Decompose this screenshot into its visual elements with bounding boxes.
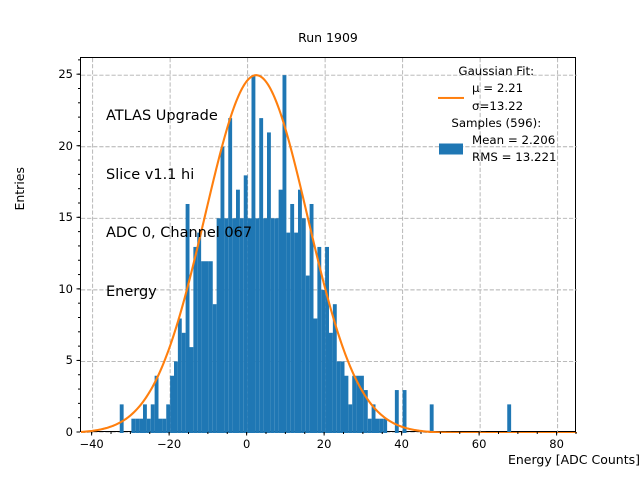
histogram-bar [174, 361, 178, 433]
histogram-bar [213, 304, 217, 433]
y-tick-label: 0 [0, 425, 73, 439]
histogram-bar [321, 290, 325, 433]
histogram-bar [252, 75, 256, 433]
histogram-bar [302, 218, 306, 433]
histogram-bar [131, 419, 135, 433]
histogram-bar [314, 318, 318, 433]
histogram-bar [341, 361, 345, 433]
histogram-bar [244, 175, 248, 433]
legend-fit-sigma: σ=13.22 [472, 98, 523, 115]
histogram-bar [186, 204, 190, 433]
histogram-bar [286, 233, 290, 433]
y-tick-label: 5 [0, 353, 73, 367]
histogram-bar [221, 147, 225, 433]
histogram-bar [120, 404, 124, 433]
histogram-bar [279, 190, 283, 433]
histogram-bar [329, 333, 333, 433]
histogram-bar [193, 247, 197, 433]
histogram-bar [337, 361, 341, 433]
x-tick-label: −20 [157, 437, 181, 451]
y-tick-label: 25 [0, 67, 73, 81]
histogram-bar [383, 419, 387, 433]
histogram-bar [290, 204, 294, 433]
histogram-bar [325, 247, 329, 433]
histogram-bar [345, 376, 349, 433]
y-axis-label-text: Entries [12, 167, 27, 211]
histogram-bar [205, 261, 209, 433]
legend-group-fit: Gaussian Fit: μ = 2.21 σ=13.22 [436, 63, 557, 115]
legend-samples-header: Samples (596): [436, 115, 557, 132]
chart-title: Run 1909 [80, 30, 576, 46]
histogram-bar [224, 218, 228, 433]
histogram-bar [306, 276, 310, 433]
histogram-bar [178, 318, 182, 433]
histogram-bar [507, 404, 511, 433]
histogram-bar [151, 404, 155, 433]
histogram-bar [263, 218, 267, 433]
x-tick-label: −40 [79, 437, 103, 451]
x-axis-label: Energy [ADC Counts] [508, 452, 640, 467]
histogram-bar [368, 419, 372, 433]
legend-fit-header: Gaussian Fit: [436, 63, 557, 80]
histogram-bar [267, 132, 271, 433]
histogram-bar [259, 118, 263, 433]
histogram-bar [139, 419, 143, 433]
legend-entry-samples[interactable]: Mean = 2.206 RMS = 13.221 [436, 132, 557, 167]
plot-area: ATLAS Upgrade Slice v1.1 hi ADC 0, Chann… [80, 57, 576, 432]
legend-fit-values: μ = 2.21 σ=13.22 [472, 80, 523, 115]
histogram-bar [255, 218, 259, 433]
legend-entry-gaussian-fit[interactable]: μ = 2.21 σ=13.22 [436, 80, 557, 115]
histogram-bar [162, 419, 166, 433]
y-tick-label: 15 [0, 210, 73, 224]
histogram-bar [228, 118, 232, 433]
histogram-bar [143, 404, 147, 433]
histogram-bar [217, 218, 221, 433]
x-tick-label: 0 [243, 437, 250, 451]
legend-patch-swatch-icon [436, 141, 466, 158]
histogram-bar [348, 404, 352, 433]
chart-figure: Run 1909 Entries ATLAS Upgrade Slice v1.… [0, 0, 640, 480]
histogram-bar [376, 419, 380, 433]
legend-samples-mean: Mean = 2.206 [472, 132, 557, 149]
legend-fit-mu: μ = 2.21 [472, 80, 523, 97]
histogram-bar [294, 233, 298, 433]
histogram-bar [430, 404, 434, 433]
histogram-bar [248, 218, 252, 433]
histogram-bar [236, 190, 240, 433]
x-tick-label: 60 [472, 437, 487, 451]
histogram-bar [166, 404, 170, 433]
legend-line-swatch-icon [436, 89, 466, 106]
histogram-bar [395, 390, 399, 433]
legend-samples-values: Mean = 2.206 RMS = 13.221 [472, 132, 557, 167]
x-tick-label: 80 [549, 437, 564, 451]
histogram-bar [240, 218, 244, 433]
histogram-bar [352, 376, 356, 433]
x-tick-label: 40 [394, 437, 409, 451]
histogram-bar [135, 419, 139, 433]
histogram-bar [155, 376, 159, 433]
histogram-bar [379, 419, 383, 433]
legend-samples-rms: RMS = 13.221 [472, 149, 557, 166]
histogram-bar [182, 333, 186, 433]
y-tick-label: 20 [0, 139, 73, 153]
legend-group-samples: Samples (596): Mean = 2.206 RMS = 13.221 [436, 115, 557, 167]
y-tick-label: 10 [0, 282, 73, 296]
histogram-bar [147, 419, 151, 433]
histogram-bar [190, 347, 194, 433]
x-tick-label: 20 [317, 437, 332, 451]
histogram-bar [170, 376, 174, 433]
histogram-bar [201, 261, 205, 433]
chart-legend: Gaussian Fit: μ = 2.21 σ=13.22 Samples (… [436, 63, 557, 167]
histogram-bar [232, 218, 236, 433]
histogram-bar [197, 233, 201, 433]
histogram-bar [271, 218, 275, 433]
histogram-bar [275, 218, 279, 433]
histogram-bar [159, 419, 163, 433]
histogram-bar [360, 376, 364, 433]
histogram-bar [298, 190, 302, 433]
histogram-bar [209, 261, 213, 433]
